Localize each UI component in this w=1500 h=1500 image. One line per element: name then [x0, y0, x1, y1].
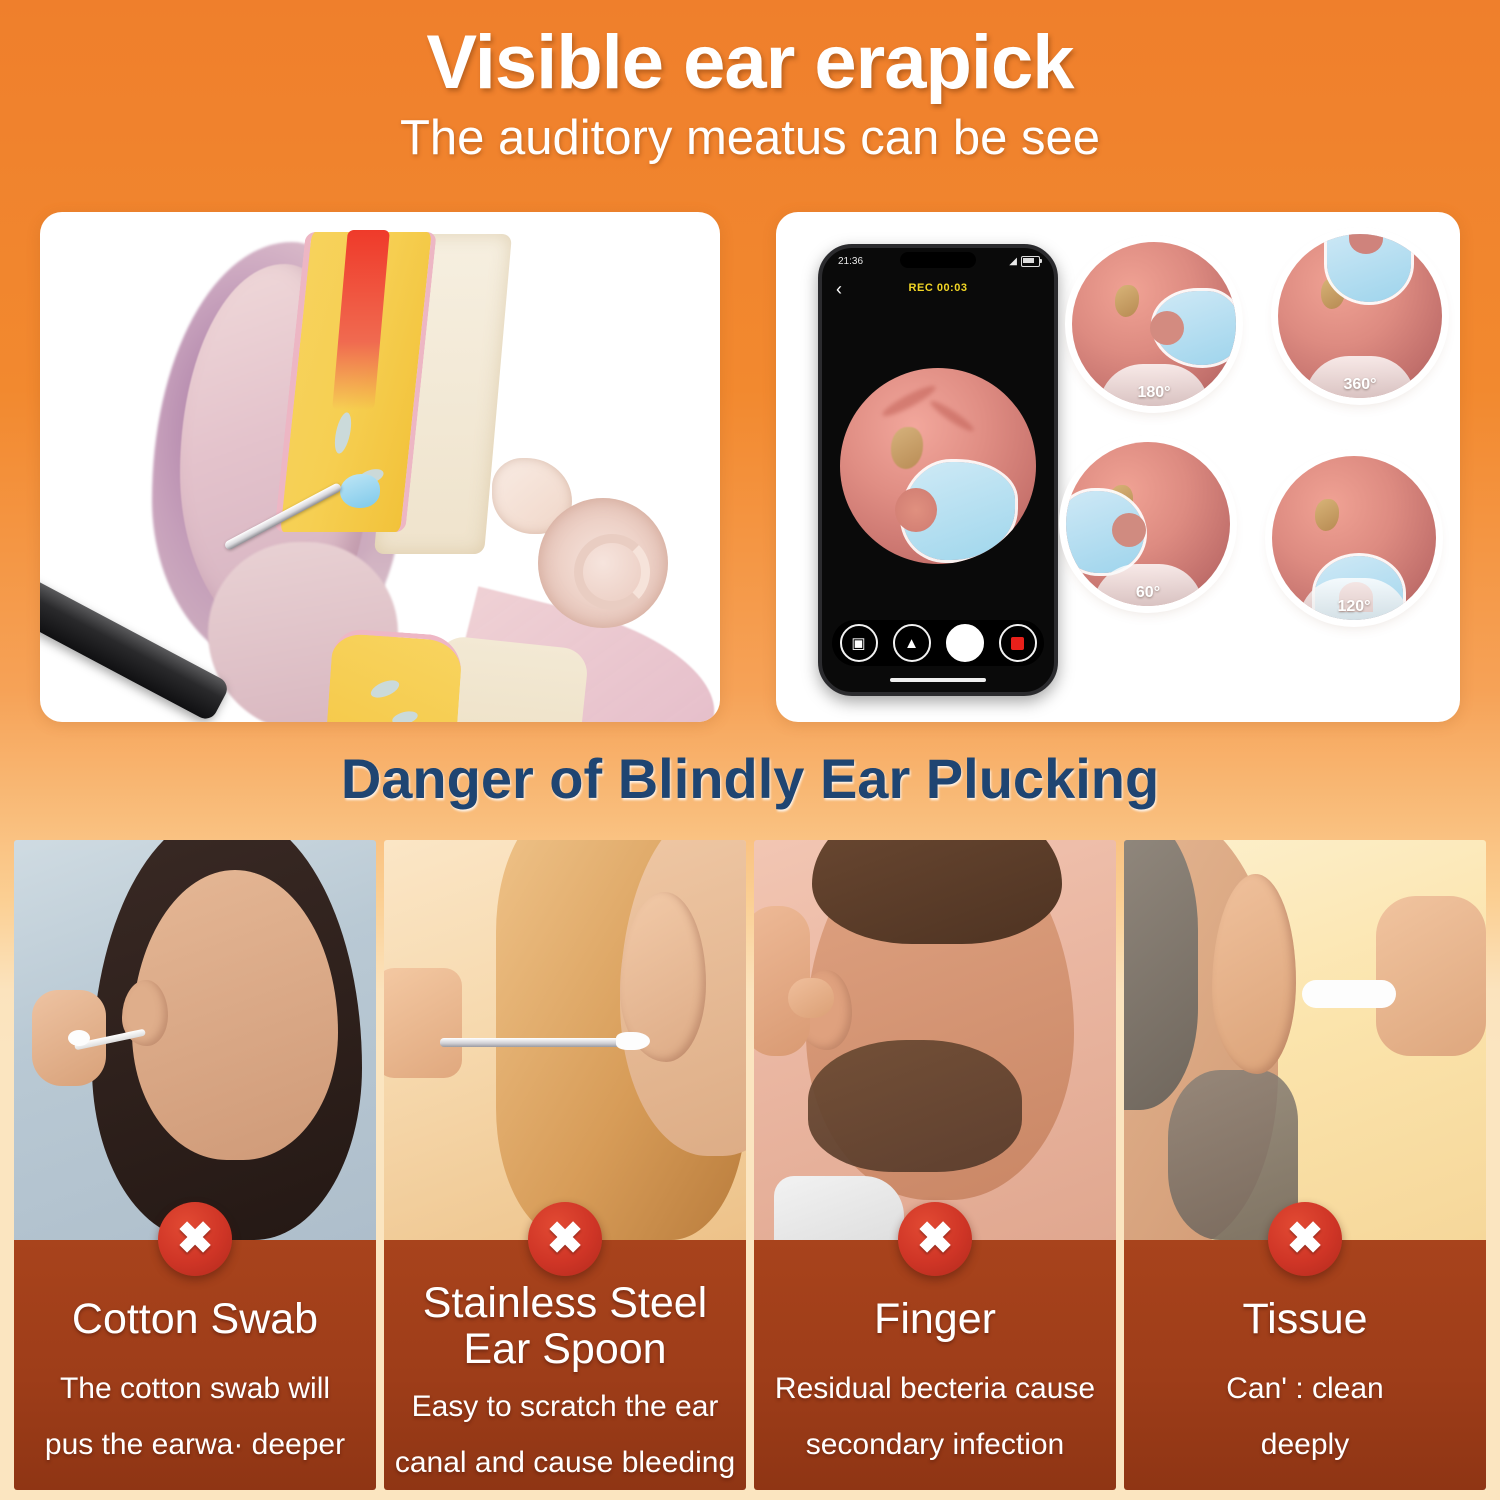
photo-man-finger-in-ear — [754, 840, 1116, 1240]
angle-view-180: 180° — [1072, 242, 1236, 406]
page-title: Visible ear erapick — [0, 0, 1500, 104]
camera-toolbar: ▣ ▲ — [832, 620, 1044, 666]
danger-card-ear-spoon: ✖ Stainless Steel Ear Spoon Easy to scra… — [384, 840, 746, 1490]
x-mark-icon: ✖ — [528, 1202, 602, 1276]
rolled-tissue — [1302, 980, 1396, 1008]
angle-views-grid: 180° 360° 60° 120° — [1066, 234, 1448, 634]
back-chevron-icon[interactable]: ‹ — [836, 280, 842, 298]
hand-shape — [384, 968, 462, 1078]
ear-anatomy-illustration — [40, 212, 720, 722]
ear-spoon-tip — [616, 1032, 650, 1050]
caption-panel: ✖ Finger Residual becteria cause seconda… — [754, 1240, 1116, 1490]
angle-label: 360° — [1343, 376, 1376, 398]
danger-cards-grid: ✖ Cotton Swab The cotton swab will pus t… — [14, 840, 1486, 1490]
angle-label: 120° — [1337, 598, 1370, 620]
ear-canal-lower — [319, 628, 464, 722]
home-indicator — [890, 678, 986, 682]
hand-shape — [1376, 896, 1486, 1056]
ear-spoon-shaft — [440, 1038, 636, 1047]
ear-anatomy-card — [40, 212, 720, 722]
phone-status-bar: 21:36 ◢ — [822, 256, 1054, 272]
brightness-icon[interactable]: ▲ — [893, 624, 931, 662]
status-icons: ◢ — [1009, 256, 1040, 267]
caption-panel: ✖ Tissue Can' : clean deeply — [1124, 1240, 1486, 1490]
silicone-scoop-tip — [340, 474, 380, 508]
battery-icon — [1021, 256, 1040, 267]
section-title: Danger of Blindly Ear Plucking — [0, 744, 1500, 814]
x-mark-icon: ✖ — [158, 1202, 232, 1276]
danger-text-line-2: pus the earwa· deeper — [14, 1410, 376, 1466]
beard-shape — [808, 1040, 1022, 1172]
danger-card-finger: ✖ Finger Residual becteria cause seconda… — [754, 840, 1116, 1490]
earwax-deposit — [1115, 285, 1139, 317]
danger-text-line-1: Residual becteria cause — [754, 1342, 1116, 1410]
angle-label-chip: 180° — [1099, 364, 1209, 406]
hair-shape — [812, 840, 1062, 944]
canal-vein — [928, 397, 977, 434]
rec-timer-label: REC 00:03 — [909, 282, 968, 294]
danger-text-line-2: canal and cause bleeding — [384, 1428, 746, 1484]
angle-label-chip: 360° — [1305, 356, 1415, 398]
product-infographic: Visible ear erapick The auditory meatus … — [0, 0, 1500, 1500]
silicone-scoop-overlay — [1327, 234, 1411, 302]
danger-card-cotton-swab: ✖ Cotton Swab The cotton swab will pus t… — [14, 840, 376, 1490]
danger-text-line-1: Can' : clean — [1124, 1342, 1486, 1410]
earwax-deposit — [1315, 499, 1339, 531]
status-clock: 21:36 — [838, 256, 863, 267]
danger-text-line-1: The cotton swab will — [14, 1342, 376, 1410]
photo-tissue-near-ear — [1124, 840, 1486, 1240]
index-finger — [788, 978, 834, 1018]
danger-text-line-1: Easy to scratch the ear — [384, 1372, 746, 1428]
angle-view-360: 360° — [1278, 234, 1442, 398]
cotton-swab-tip — [68, 1030, 90, 1046]
hero-header: Visible ear erapick The auditory meatus … — [0, 0, 1500, 200]
x-mark-icon: ✖ — [1268, 1202, 1342, 1276]
x-mark-icon: ✖ — [898, 1202, 972, 1276]
feature-cards: 21:36 ◢ ‹ REC 00:03 ▣ — [40, 212, 1460, 722]
silicone-scoop-overlay — [1154, 291, 1236, 365]
cochlea-shape — [538, 498, 668, 628]
danger-title-line-2: Ear Spoon — [384, 1326, 746, 1372]
angle-view-60: 60° — [1066, 442, 1230, 606]
shirt-shape — [774, 1176, 904, 1240]
endoscope-live-view — [840, 368, 1036, 564]
gallery-icon[interactable]: ▣ — [840, 624, 878, 662]
angle-label: 180° — [1137, 384, 1170, 406]
angle-view-120: 120° — [1272, 456, 1436, 620]
phone-app-bar: ‹ REC 00:03 — [822, 278, 1054, 302]
page-subtitle: The auditory meatus can be see — [0, 104, 1500, 166]
photo-metal-ear-spoon — [384, 840, 746, 1240]
phone-mockup: 21:36 ◢ ‹ REC 00:03 ▣ — [818, 244, 1058, 696]
caption-panel: ✖ Stainless Steel Ear Spoon Easy to scra… — [384, 1240, 746, 1490]
danger-text-line-2: deeply — [1124, 1410, 1486, 1466]
earwax-deposit — [891, 427, 923, 469]
silicone-scoop-overlay — [903, 462, 1015, 560]
shutter-button[interactable] — [946, 624, 984, 662]
photo-woman-cotton-swab — [14, 840, 376, 1240]
record-button[interactable] — [999, 624, 1037, 662]
danger-text-line-2: secondary infection — [754, 1410, 1116, 1466]
caption-panel: ✖ Cotton Swab The cotton swab will pus t… — [14, 1240, 376, 1490]
angle-label: 60° — [1136, 584, 1160, 606]
wifi-icon: ◢ — [1009, 256, 1017, 267]
endoscope-view-card: 21:36 ◢ ‹ REC 00:03 ▣ — [776, 212, 1460, 722]
danger-card-tissue: ✖ Tissue Can' : clean deeply — [1124, 840, 1486, 1490]
